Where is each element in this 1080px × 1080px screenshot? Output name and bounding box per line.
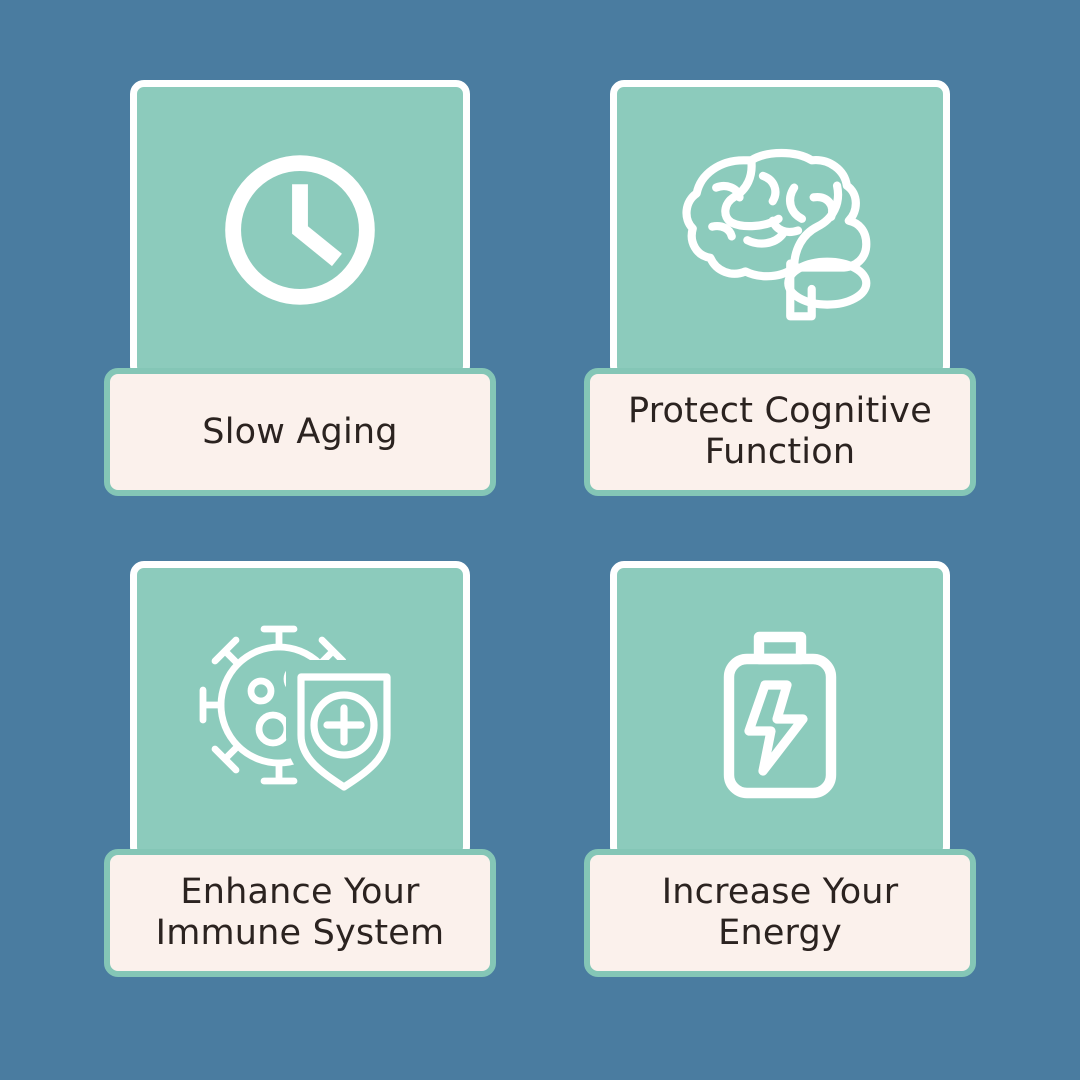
card-label-plate: Increase Your Energy: [584, 849, 976, 977]
benefit-card-slow-aging[interactable]: Slow Aging: [104, 70, 496, 503]
icon-panel: [610, 561, 950, 861]
card-label: Enhance Your Immune System: [156, 872, 445, 953]
card-label: Slow Aging: [202, 412, 397, 453]
card-label: Increase Your Energy: [662, 872, 899, 953]
benefits-grid: Slow Aging: [0, 0, 1080, 1080]
icon-panel: [130, 80, 470, 380]
icon-panel: [610, 80, 950, 380]
clock-icon: [137, 87, 463, 373]
benefit-card-protect-cognitive-function[interactable]: Protect Cognitive Function: [584, 70, 976, 503]
brain-icon: [617, 87, 943, 373]
card-label-plate: Enhance Your Immune System: [104, 849, 496, 977]
battery-bolt-icon: [617, 568, 943, 854]
virus-shield-icon: [137, 568, 463, 854]
card-label-plate: Slow Aging: [104, 368, 496, 496]
benefit-card-enhance-your-immune-system[interactable]: Enhance Your Immune System: [104, 551, 496, 984]
card-label: Protect Cognitive Function: [628, 391, 932, 472]
card-label-plate: Protect Cognitive Function: [584, 368, 976, 496]
icon-panel: [130, 561, 470, 861]
benefit-card-increase-your-energy[interactable]: Increase Your Energy: [584, 551, 976, 984]
